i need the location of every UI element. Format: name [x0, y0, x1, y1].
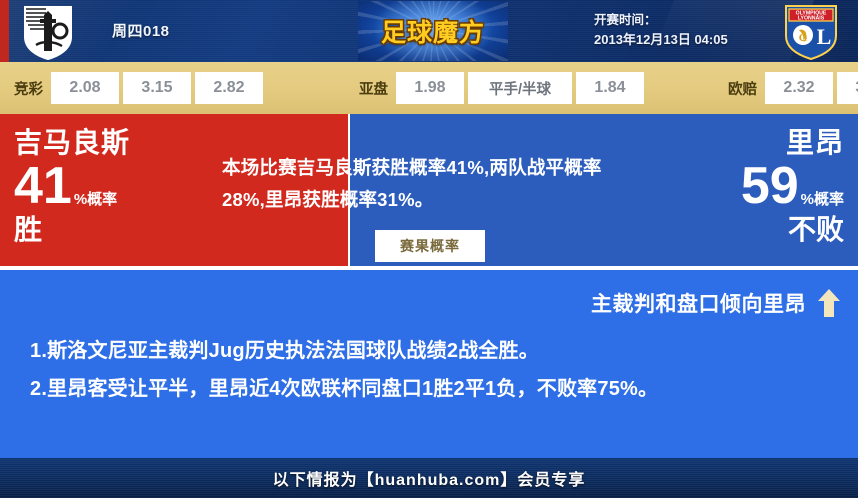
section-tab-result-probability: 赛果概率 — [375, 230, 485, 262]
odds-group-asian: 亚盘 1.98 平手/半球 1.84 — [359, 72, 648, 104]
away-outcome-label: 不败 — [741, 214, 844, 246]
home-percent-value: 41 — [14, 160, 72, 212]
svg-text:LYONNAIS: LYONNAIS — [798, 16, 825, 22]
brand-logo[interactable]: 足球魔方 — [358, 1, 508, 61]
svg-text:O: O — [799, 32, 808, 44]
vitoria-guimaraes-crest-icon — [22, 5, 74, 60]
footer-bar: 以下情报为【huanhuba.com】会员专享 — [0, 458, 858, 498]
odds-cell-away[interactable]: 2.82 — [195, 72, 263, 104]
odds-cell-home[interactable]: 2.32 — [765, 72, 833, 104]
arrow-up-icon — [818, 289, 840, 317]
odds-cell-home[interactable]: 1.98 — [396, 72, 464, 104]
odds-group-jingcai: 竞彩 2.08 3.15 2.82 — [14, 72, 267, 104]
footer-notice: 以下情报为【huanhuba.com】会员专享 — [273, 466, 586, 490]
odds-cell-away[interactable]: 1.84 — [576, 72, 644, 104]
kickoff-block: 开赛时间： 2013年12月13日 04:05 — [594, 10, 774, 50]
brand-logo-text: 足球魔方 — [358, 1, 508, 61]
odds-group-label: 竞彩 — [14, 78, 43, 99]
odds-group-label: 亚盘 — [359, 78, 388, 99]
away-percent-suffix: %概率 — [801, 192, 844, 212]
header-bar: 周四018 足球魔方 开赛时间： 2013年12月13日 04:05 OLYMP… — [0, 0, 858, 62]
olympique-lyonnais-crest-icon: OLYMPIQUE LYONNAIS L O — [782, 4, 840, 60]
home-team-block: 吉马良斯 41 %概率 胜 — [14, 126, 130, 246]
insight-bullet-1: 1.斯洛文尼亚主裁判Jug历史执法法国球队战绩2战全胜。 — [30, 332, 830, 370]
odds-group-european: 欧赔 2.32 3.18 2.95 — [728, 72, 858, 104]
probability-summary-text: 本场比赛吉马良斯获胜概率41%,两队战平概率28%,里昂获胜概率31%。 — [222, 152, 632, 216]
away-team-name: 里昂 — [741, 126, 844, 160]
odds-bar: 竞彩 2.08 3.15 2.82 亚盘 1.98 平手/半球 1.84 欧赔 … — [0, 62, 858, 114]
insight-panel: 主裁判和盘口倾向里昂 1.斯洛文尼亚主裁判Jug历史执法法国球队战绩2战全胜。 … — [0, 270, 858, 458]
header-red-stripe — [0, 0, 9, 62]
match-preview-card: 周四018 足球魔方 开赛时间： 2013年12月13日 04:05 OLYMP… — [0, 0, 858, 498]
odds-cell-draw[interactable]: 3.18 — [837, 72, 858, 104]
home-team-name: 吉马良斯 — [14, 126, 130, 160]
insight-bullet-2: 2.里昂客受让平半，里昂近4次欧联杯同盘口1胜2平1负，不败率75%。 — [30, 370, 830, 408]
home-percent-suffix: %概率 — [74, 192, 117, 212]
away-percent-value: 59 — [741, 160, 799, 212]
kickoff-label: 开赛时间： — [594, 10, 774, 30]
odds-cell-home[interactable]: 2.08 — [51, 72, 119, 104]
home-outcome-label: 胜 — [14, 214, 130, 246]
away-team-block: 里昂 59 %概率 不败 — [741, 126, 844, 246]
match-round-label: 周四018 — [112, 20, 170, 41]
away-percent-line: 59 %概率 — [741, 160, 844, 212]
odds-cell-draw[interactable]: 3.15 — [123, 72, 191, 104]
odds-cell-handicap[interactable]: 平手/半球 — [468, 72, 572, 104]
insight-headline-row: 主裁判和盘口倾向里昂 — [591, 288, 840, 318]
home-percent-line: 41 %概率 — [14, 160, 130, 212]
kickoff-value: 2013年12月13日 04:05 — [594, 30, 774, 50]
insight-headline: 主裁判和盘口倾向里昂 — [591, 288, 806, 318]
svg-text:L: L — [817, 24, 832, 49]
odds-group-label: 欧赔 — [728, 78, 757, 99]
insight-bullet-list: 1.斯洛文尼亚主裁判Jug历史执法法国球队战绩2战全胜。 2.里昂客受让平半，里… — [30, 332, 830, 408]
